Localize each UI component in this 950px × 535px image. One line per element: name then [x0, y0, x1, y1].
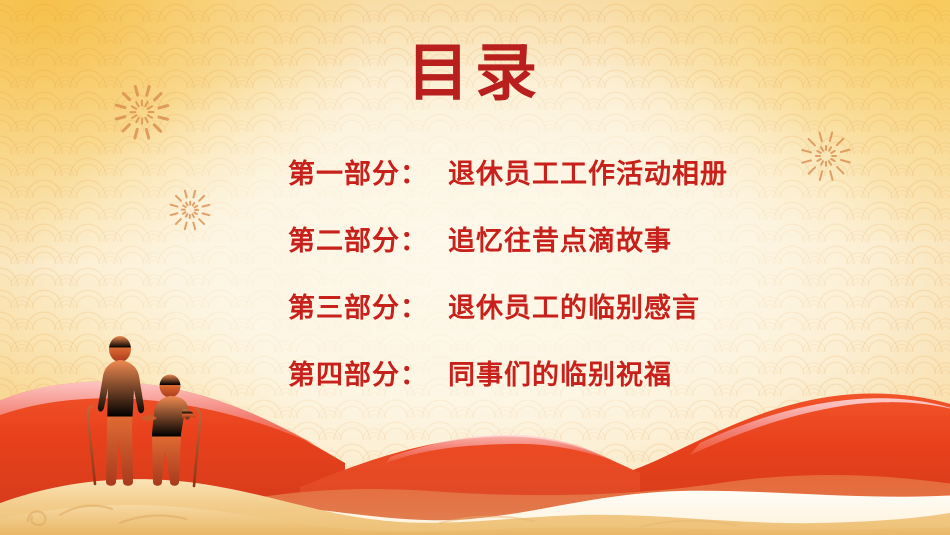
toc-item-separator: ：	[400, 152, 428, 191]
toc-item-index: 第三部分	[288, 286, 400, 325]
toc-item-separator: ：	[400, 219, 428, 258]
toc-item-separator: ：	[400, 286, 428, 325]
toc-item-label: 同事们的临别祝福	[448, 353, 672, 392]
toc-item-label: 追忆往昔点滴故事	[448, 219, 672, 258]
toc-item-index: 第一部分	[288, 152, 400, 191]
page-title: 目录	[0, 42, 950, 104]
toc-item-index: 第四部分	[288, 353, 400, 392]
toc-item-index: 第二部分	[288, 219, 400, 258]
slide-canvas: 目录 第一部分 ： 退休员工工作活动相册 第二部分 ： 追忆往昔点滴故事 第三部…	[0, 0, 950, 535]
toc-item-4[interactable]: 第四部分 ： 同事们的临别祝福	[288, 353, 728, 420]
slide-content: 目录 第一部分 ： 退休员工工作活动相册 第二部分 ： 追忆往昔点滴故事 第三部…	[0, 0, 950, 535]
toc-item-3[interactable]: 第三部分 ： 退休员工的临别感言	[288, 286, 728, 353]
toc-item-label: 退休员工工作活动相册	[448, 152, 728, 191]
toc-item-separator: ：	[400, 353, 428, 392]
toc-item-2[interactable]: 第二部分 ： 追忆往昔点滴故事	[288, 219, 728, 286]
toc-item-label: 退休员工的临别感言	[448, 286, 700, 325]
toc-item-1[interactable]: 第一部分 ： 退休员工工作活动相册	[288, 152, 728, 219]
table-of-contents-list: 第一部分 ： 退休员工工作活动相册 第二部分 ： 追忆往昔点滴故事 第三部分 ：…	[288, 152, 728, 420]
